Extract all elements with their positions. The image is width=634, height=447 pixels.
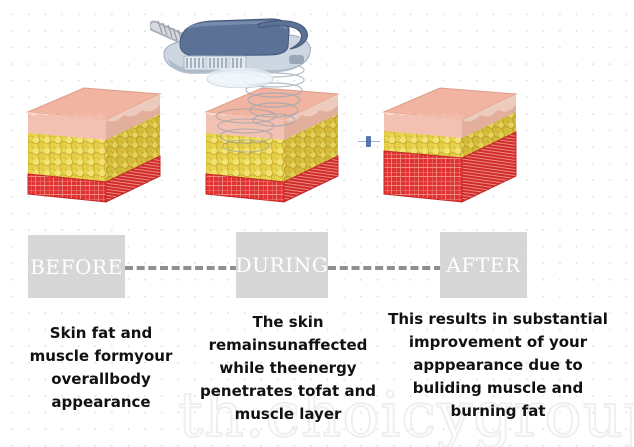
infographic-canvas: th.choicygroup.com xyxy=(0,0,634,447)
blue-marker-icon xyxy=(366,136,371,147)
stage-label-before: BEFORE xyxy=(30,257,123,277)
caption-before: Skin fat and muscle formyour overallbody… xyxy=(6,322,196,414)
device-vent-grille xyxy=(184,56,246,70)
stage-box-before[interactable]: BEFORE xyxy=(28,235,125,298)
muscle-front-thick xyxy=(384,151,462,202)
device-base-cup xyxy=(207,68,273,88)
stage-label-during: DURING xyxy=(236,255,329,275)
connector-before-during xyxy=(125,266,238,270)
connector-during-after xyxy=(328,266,442,270)
stage-label-after: AFTER xyxy=(446,255,520,275)
skin-block-after xyxy=(378,82,518,207)
handheld-applicator-device xyxy=(150,8,318,88)
caption-during: The skin remainsunaffected while theener… xyxy=(190,311,386,426)
fat-front xyxy=(28,133,106,182)
stage-box-during[interactable]: DURING xyxy=(236,232,328,298)
skin-block-before xyxy=(22,82,162,207)
stage-box-after[interactable]: AFTER xyxy=(440,232,527,298)
caption-after: This results in substantial improvement … xyxy=(372,308,624,423)
device-tip-button xyxy=(289,55,304,64)
